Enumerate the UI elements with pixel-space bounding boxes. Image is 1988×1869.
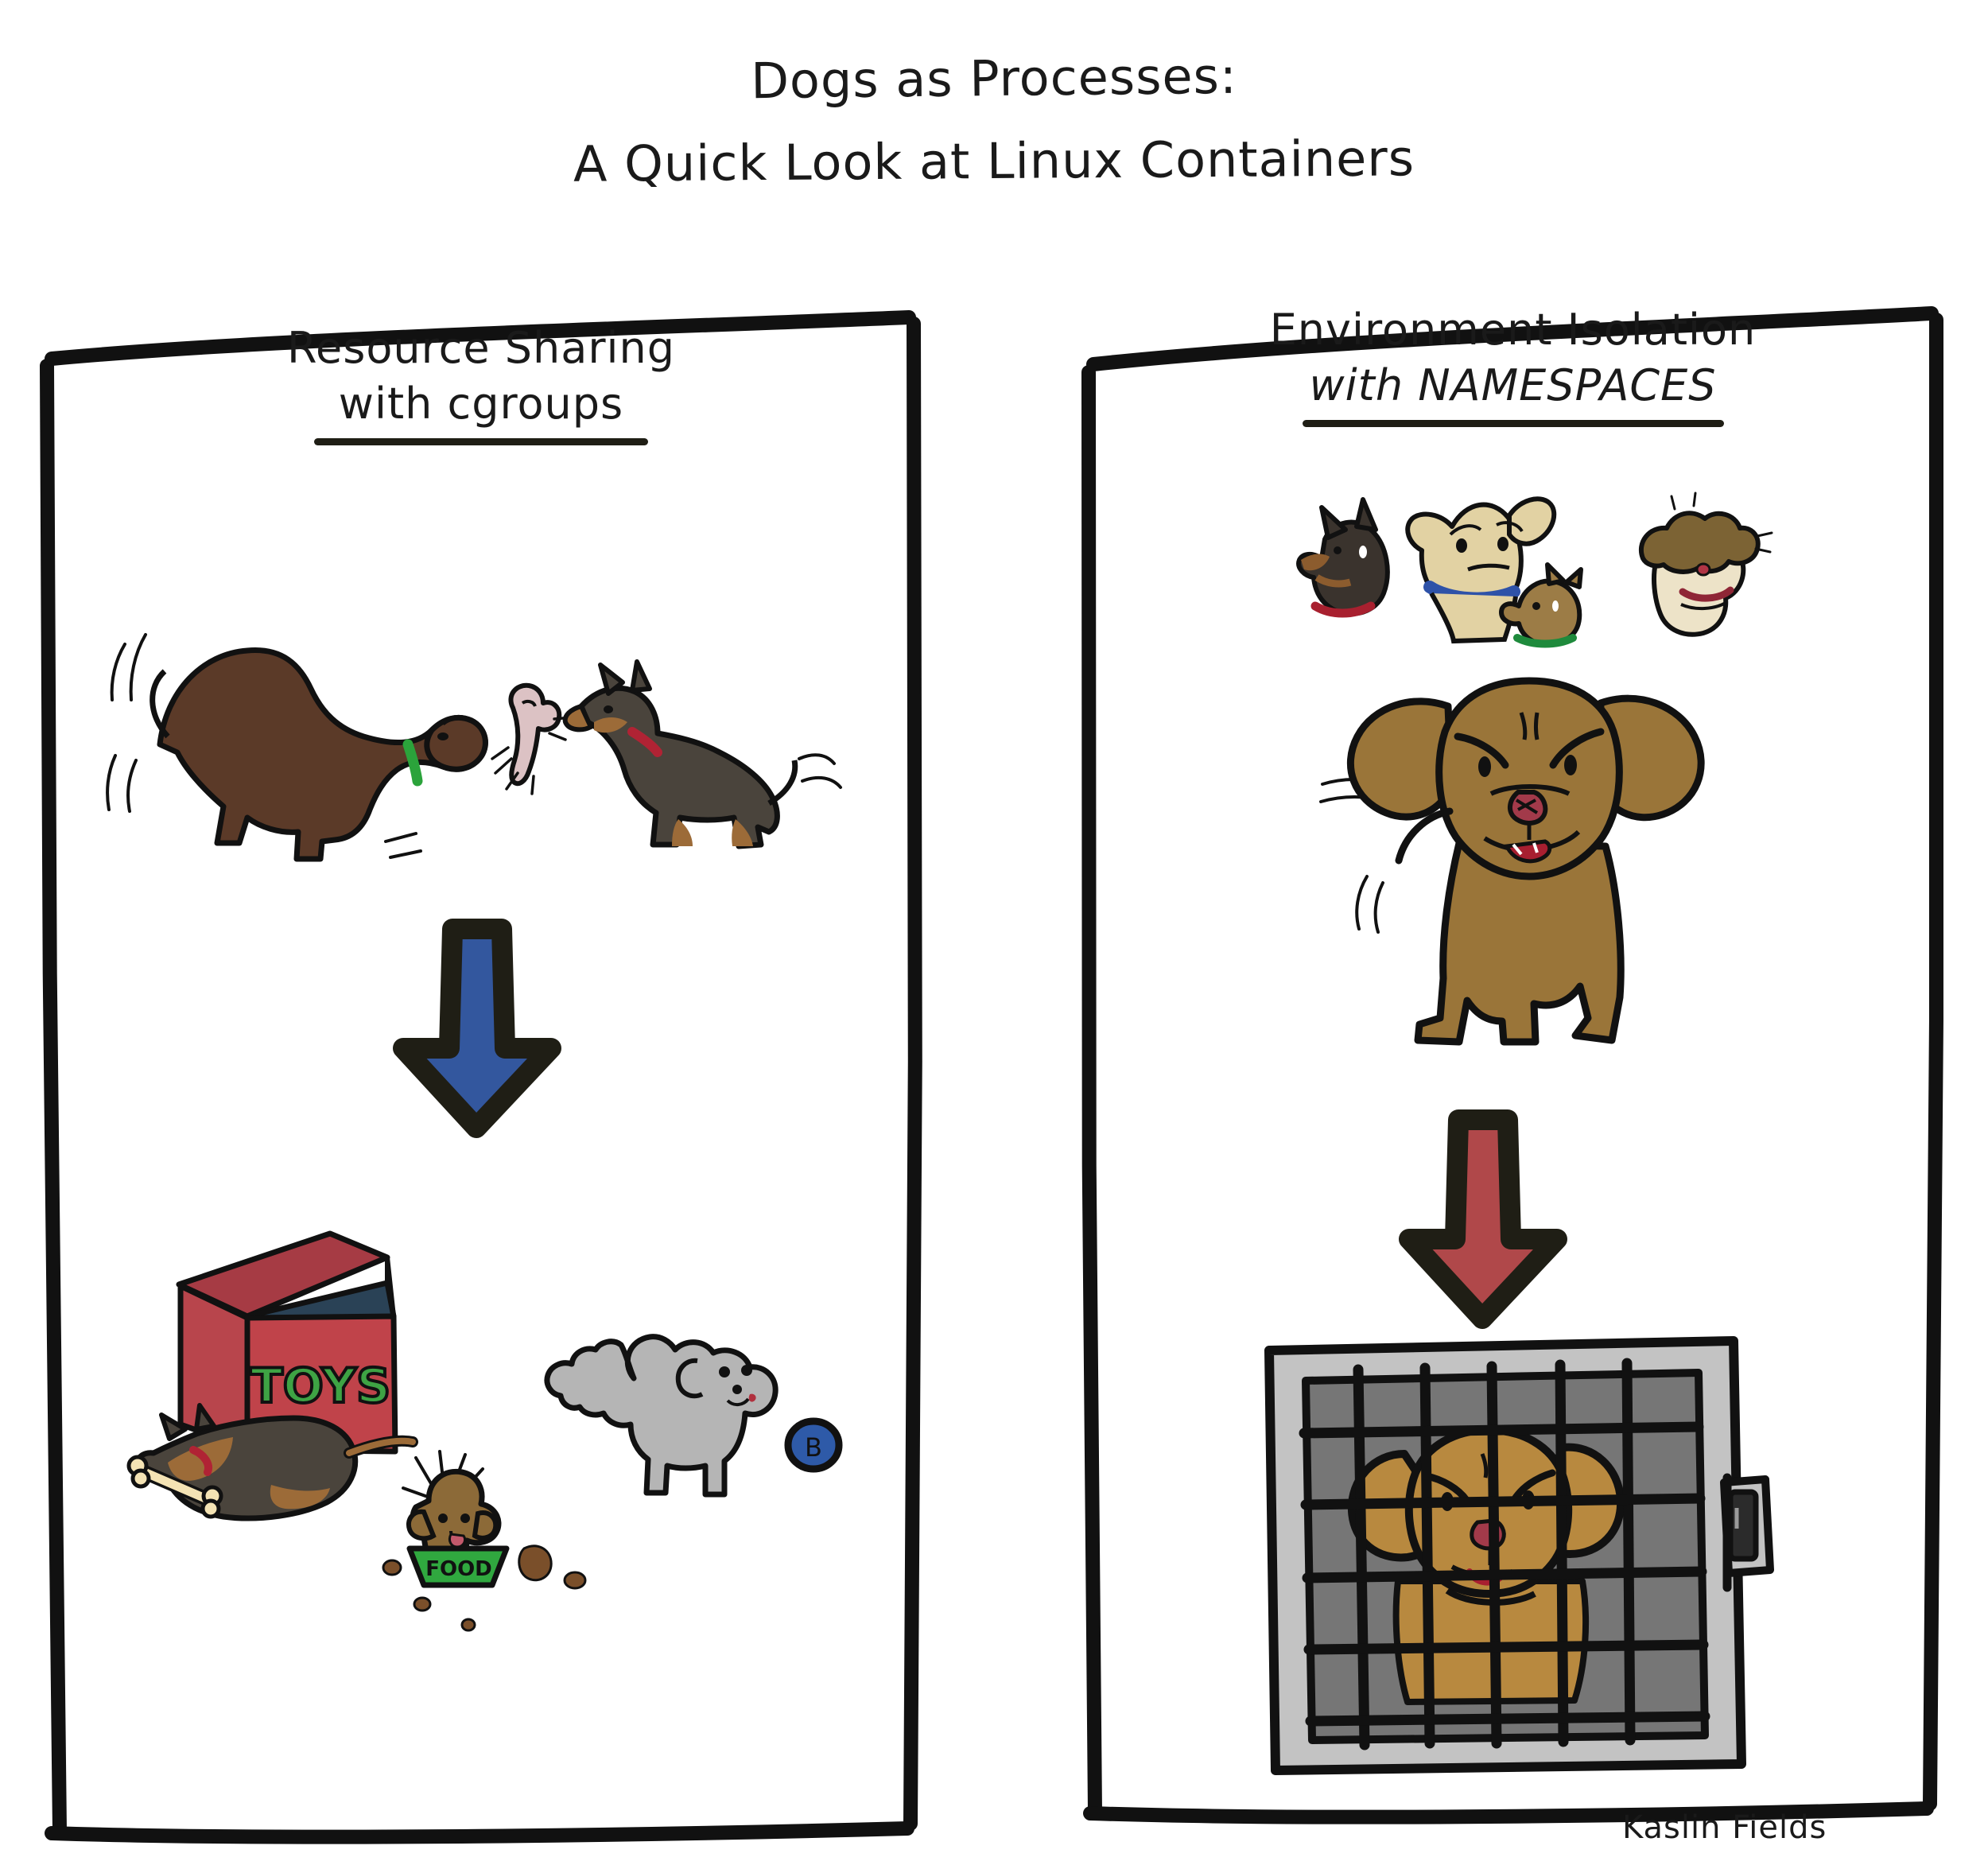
ball-label: B: [805, 1432, 822, 1463]
panel-left-heading-line1: Resource Sharing: [36, 321, 926, 376]
title-line-2: A Quick Look at Linux Containers: [0, 123, 1988, 199]
toy-box-label: TOYS: [250, 1358, 390, 1414]
scruffy-terrier-head: [1641, 493, 1772, 635]
blue-ball: B: [788, 1421, 839, 1469]
panel-left-heading-line2: with cgroups: [36, 376, 926, 432]
gray-poodle: [547, 1337, 775, 1494]
scene-dogs-sharing-resources: TOYS: [91, 1189, 879, 1730]
scene-dog-head-gallery: [1280, 485, 1773, 652]
panel-left-heading: Resource Sharing with cgroups: [36, 321, 926, 445]
scene-dog-in-crate: [1256, 1328, 1781, 1782]
title-line-1: Dogs as Processes:: [0, 37, 1988, 120]
scene-two-dogs-tug-of-war: [83, 589, 871, 867]
panel-right-heading: Environment Isolation with NAMESPACES: [1077, 302, 1948, 427]
panel-right-heading-line2: with NAMESPACES: [1077, 358, 1948, 414]
panel-cgroups: Resource Sharing with cgroups: [36, 282, 926, 1841]
scruffy-puppy-eating: FOOD: [383, 1451, 585, 1630]
panel-right-heading-underline: [1303, 420, 1724, 427]
food-bowl-label: FOOD: [425, 1557, 492, 1581]
doberman-head: [1299, 499, 1388, 614]
angry-brown-dog: [1308, 644, 1753, 1058]
down-arrow-red: [1392, 1105, 1574, 1328]
crate-latch: [1724, 1478, 1770, 1587]
down-arrow-blue: [386, 915, 569, 1137]
panel-left-heading-underline: [314, 438, 648, 445]
panel-namespaces: Environment Isolation with NAMESPACES: [1077, 286, 1948, 1821]
artist-signature: Kaslin Fields: [1622, 1809, 1827, 1846]
panel-right-heading-line1: Environment Isolation: [1077, 302, 1948, 358]
page-title: Dogs as Processes: A Quick Look at Linux…: [0, 48, 1988, 192]
